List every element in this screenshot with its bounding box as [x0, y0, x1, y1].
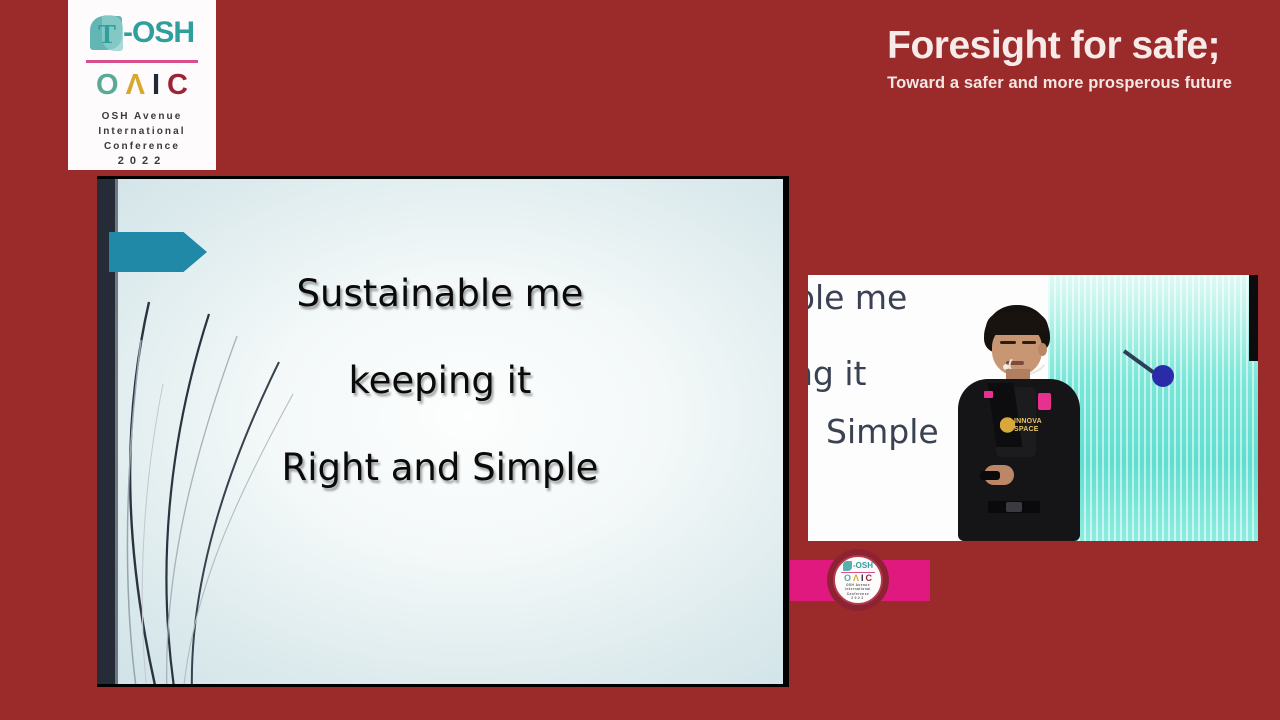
leaf-icon: T [90, 14, 124, 52]
oaic-letter-i: I [152, 71, 160, 100]
presenter-camera-feed: ble me ng it Simple INNOVA SPACE [808, 275, 1258, 541]
badge-wordmark: -OSH [853, 562, 873, 570]
conference-line-1: OSH Avenue [98, 109, 185, 124]
led-graphic-line [1123, 349, 1154, 373]
badge-year: 2022 [851, 596, 865, 600]
slide-text-block: Sustainable me keeping it Right and Simp… [97, 275, 783, 486]
badge-letter-c: C [866, 574, 873, 583]
banner-title: Foresight for safe; [887, 26, 1232, 67]
pink-divider [86, 60, 198, 63]
logo-card-inner: T -OSH O Λ I C OSH Avenue International … [81, 10, 203, 169]
badge-letter-i: I [861, 574, 864, 583]
tosh-wordmark-row: T -OSH [81, 10, 203, 56]
conference-year: 2022 [98, 154, 185, 169]
oaic-letter-a: Λ [126, 71, 145, 100]
speaker-figure: INNOVA SPACE [948, 305, 1088, 541]
speaker-brow-left [1000, 341, 1016, 344]
badge-acronym: O Λ I C [844, 574, 872, 583]
slide-line-3: Right and Simple [97, 449, 783, 486]
round-conference-badge: -OSH O Λ I C OSH Avenue International Co… [827, 549, 889, 611]
speaker-shirt-logo: INNOVA SPACE [1000, 413, 1034, 437]
oaic-letter-c: C [167, 71, 188, 100]
slide-line-1: Sustainable me [97, 275, 783, 312]
led-graphic-dot [1152, 365, 1174, 387]
projected-line-2: ng it [808, 357, 866, 390]
projected-line-3: Simple [826, 415, 939, 448]
banner-subtitle: Toward a safer and more prosperous futur… [887, 74, 1232, 93]
oaic-letter-o: O [96, 71, 119, 100]
conference-line-3: Conference [98, 139, 185, 154]
speaker-badge-pink [1038, 393, 1051, 410]
speaker-badge-pink-small [984, 391, 993, 398]
presentation-clicker [980, 471, 1000, 480]
badge-letter-o: O [844, 574, 851, 583]
projected-line-1: ble me [808, 281, 907, 314]
osh-wordmark: -OSH [123, 18, 194, 48]
speaker-belt-buckle [1006, 502, 1022, 512]
slide-line-2: keeping it [97, 362, 783, 399]
oaic-acronym: O Λ I C [96, 68, 188, 102]
leaf-letter: T [90, 21, 124, 48]
teal-arrow-shape [109, 232, 207, 272]
conference-line-2: International [98, 124, 185, 139]
presentation-slide: Sustainable me keeping it Right and Simp… [97, 179, 783, 684]
conference-logo-card: T -OSH O Λ I C OSH Avenue International … [68, 0, 216, 170]
badge-letter-a: Λ [853, 574, 859, 583]
conference-subtitle-lines: OSH Avenue International Conference 2022 [98, 109, 185, 169]
badge-tosh-row: -OSH [843, 560, 873, 571]
speaker-brow-right [1022, 341, 1036, 344]
badge-leaf-icon [843, 561, 852, 571]
speaker-hair-fringe [986, 313, 1048, 335]
round-badge-inner: -OSH O Λ I C OSH Avenue International Co… [833, 555, 883, 605]
led-wall-dark-edge [1249, 275, 1258, 361]
presentation-slide-frame: Sustainable me keeping it Right and Simp… [97, 176, 789, 687]
event-banner: Foresight for safe; Toward a safer and m… [887, 26, 1232, 93]
